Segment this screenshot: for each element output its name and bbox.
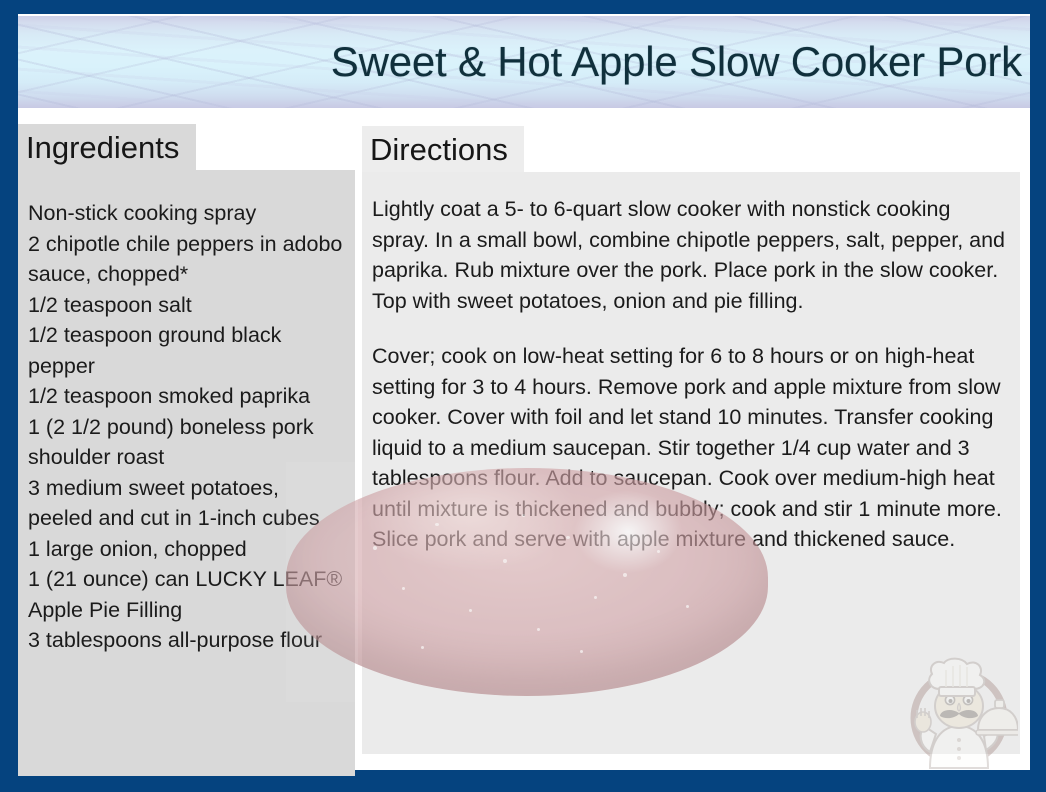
direction-paragraph: Cover; cook on low-heat setting for 6 to… xyxy=(372,341,1006,555)
list-item: 3 tablespoons all-purpose flour xyxy=(28,625,345,656)
list-item: 1 large onion, chopped xyxy=(28,534,345,565)
directions-panel: Directions Lightly coat a 5- to 6-quart … xyxy=(362,126,1020,754)
direction-paragraph: Lightly coat a 5- to 6-quart slow cooker… xyxy=(372,194,1006,316)
border-top xyxy=(0,0,1046,14)
list-item: 1/2 teaspoon smoked paprika xyxy=(28,381,345,412)
directions-tab: Directions xyxy=(362,126,524,172)
list-item: 2 chipotle chile peppers in adobo sauce,… xyxy=(28,229,345,290)
page-title: Sweet & Hot Apple Slow Cooker Pork xyxy=(331,38,1022,86)
list-item: 3 medium sweet potatoes, peeled and cut … xyxy=(28,473,345,534)
directions-heading: Directions xyxy=(370,134,508,165)
border-left xyxy=(0,0,18,792)
ingredients-heading: Ingredients xyxy=(26,132,179,163)
title-banner: Sweet & Hot Apple Slow Cooker Pork xyxy=(18,16,1030,108)
recipe-card: Sweet & Hot Apple Slow Cooker Pork Ingre… xyxy=(0,0,1046,792)
ingredients-panel: Ingredients Non-stick cooking spray 2 ch… xyxy=(18,124,355,776)
list-item: 1/2 teaspoon ground black pepper xyxy=(28,320,345,381)
list-item: 1 (21 ounce) can LUCKY LEAF® Apple Pie F… xyxy=(28,564,345,625)
list-item: Non-stick cooking spray xyxy=(28,198,345,229)
list-item: 1 (2 1/2 pound) boneless pork shoulder r… xyxy=(28,412,345,473)
directions-body: Lightly coat a 5- to 6-quart slow cooker… xyxy=(362,172,1020,754)
border-right xyxy=(1030,0,1046,792)
ingredient-list: Non-stick cooking spray 2 chipotle chile… xyxy=(28,198,345,656)
ingredients-body: Non-stick cooking spray 2 chipotle chile… xyxy=(18,170,355,776)
ingredients-tab: Ingredients xyxy=(18,124,196,170)
list-item: 1/2 teaspoon salt xyxy=(28,290,345,321)
